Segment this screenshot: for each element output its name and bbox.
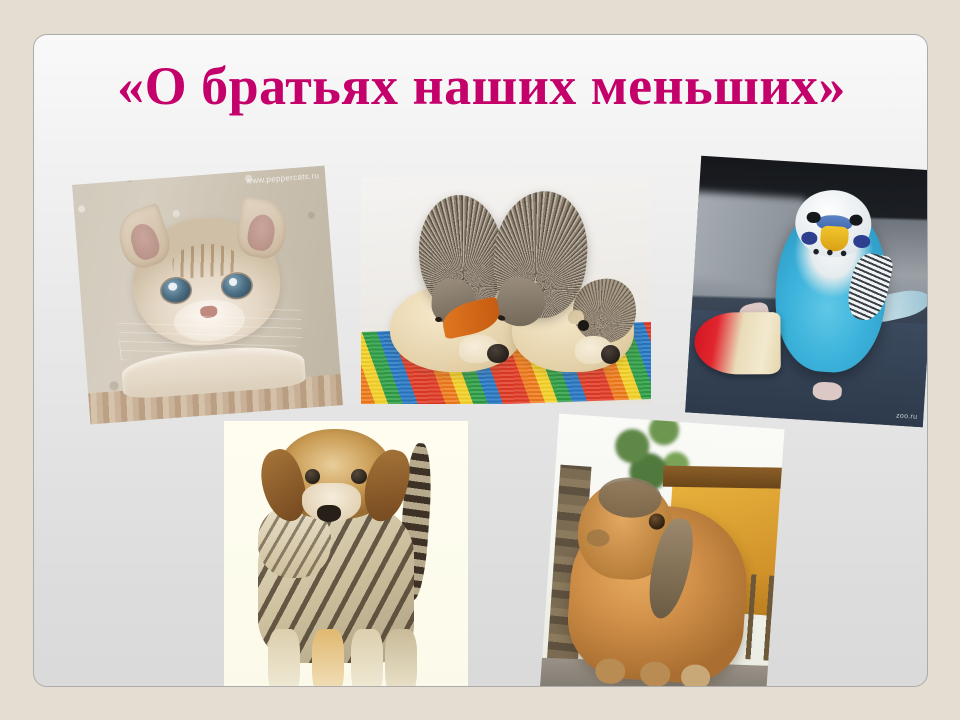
paw-back-left	[351, 629, 383, 687]
paw-front-left	[268, 629, 300, 687]
paw-front-right	[312, 629, 344, 687]
parrot-foot-right	[812, 382, 842, 402]
photo-hedgehogs[interactable]	[361, 177, 651, 404]
photo-hedgehogs-image	[361, 177, 651, 404]
apple-slice	[694, 312, 780, 374]
photo-kitten-image	[72, 166, 343, 425]
parrot-throat-spots	[807, 245, 851, 261]
photo-rabbit-image	[539, 413, 784, 687]
photo-puppy-and-kitten[interactable]	[224, 421, 468, 687]
kitten-forehead-stripes	[171, 241, 238, 279]
photo-puppy-and-kitten-image	[224, 421, 468, 687]
photo-parrot[interactable]: zoo.ru	[685, 156, 928, 427]
slide-canvas: «О братьях наших меньших» www.peppercats…	[0, 0, 960, 720]
slide-content-panel: «О братьях наших меньших» www.peppercats…	[33, 34, 928, 687]
paw-back-right	[385, 629, 417, 687]
photo-parrot-image	[685, 156, 928, 427]
photo-rabbit[interactable]	[539, 413, 784, 687]
page-title: «О братьях наших меньших»	[34, 55, 928, 117]
puppy-eye-right	[351, 469, 367, 484]
photo-kitten[interactable]: www.peppercats.ru	[72, 166, 343, 425]
